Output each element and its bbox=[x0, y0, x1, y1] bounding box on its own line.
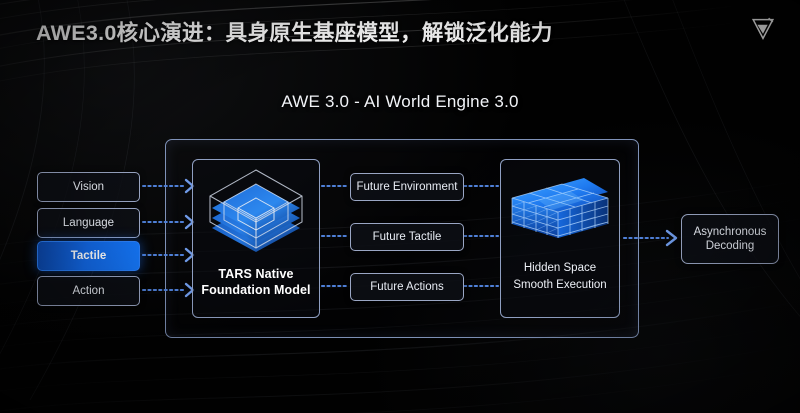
input-node-vision[interactable]: Vision bbox=[37, 172, 140, 202]
input-node-vision-label: Vision bbox=[73, 180, 104, 194]
input-node-language[interactable]: Language bbox=[37, 208, 140, 238]
input-node-language-label: Language bbox=[63, 216, 114, 230]
future-node-environment-label: Future Environment bbox=[357, 180, 458, 194]
future-node-actions[interactable]: Future Actions bbox=[350, 273, 464, 301]
hidden-space-card[interactable]: Hidden Space Smooth Execution bbox=[500, 159, 620, 318]
core-model-card[interactable]: TARS Native Foundation Model bbox=[192, 159, 320, 318]
hidden-space-label-line2: Smooth Execution bbox=[513, 279, 606, 291]
output-node-label: Asynchronous Decoding bbox=[694, 225, 767, 254]
core-model-label-line2: Foundation Model bbox=[201, 283, 310, 297]
future-node-tactile[interactable]: Future Tactile bbox=[350, 223, 464, 251]
input-node-action-label: Action bbox=[73, 284, 105, 298]
layered-cube-icon bbox=[200, 166, 312, 264]
input-node-action[interactable]: Action bbox=[37, 276, 140, 306]
hidden-space-label-line1: Hidden Space bbox=[524, 262, 596, 274]
slide-root: AWE3.0核心演进：具身原生基座模型，解锁泛化能力 AWE 3.0 - AI … bbox=[0, 0, 800, 413]
hidden-space-label: Hidden Space Smooth Execution bbox=[513, 260, 606, 293]
page-title: AWE3.0核心演进：具身原生基座模型，解锁泛化能力 bbox=[36, 16, 553, 47]
diagram-title: AWE 3.0 - AI World Engine 3.0 bbox=[0, 92, 800, 112]
brand-triangle-logo bbox=[748, 14, 778, 44]
isometric-grid-block-icon bbox=[508, 176, 612, 248]
output-node-async-decoding[interactable]: Asynchronous Decoding bbox=[681, 214, 779, 264]
future-node-actions-label: Future Actions bbox=[370, 280, 444, 294]
output-node-label-line2: Decoding bbox=[706, 240, 755, 252]
output-node-label-line1: Asynchronous bbox=[694, 226, 767, 238]
future-node-tactile-label: Future Tactile bbox=[373, 230, 442, 244]
core-model-label-line1: TARS Native bbox=[218, 267, 293, 281]
input-node-tactile[interactable]: Tactile bbox=[37, 241, 140, 271]
core-model-label: TARS Native Foundation Model bbox=[201, 266, 310, 299]
input-node-tactile-label: Tactile bbox=[71, 249, 107, 263]
future-node-environment[interactable]: Future Environment bbox=[350, 173, 464, 201]
